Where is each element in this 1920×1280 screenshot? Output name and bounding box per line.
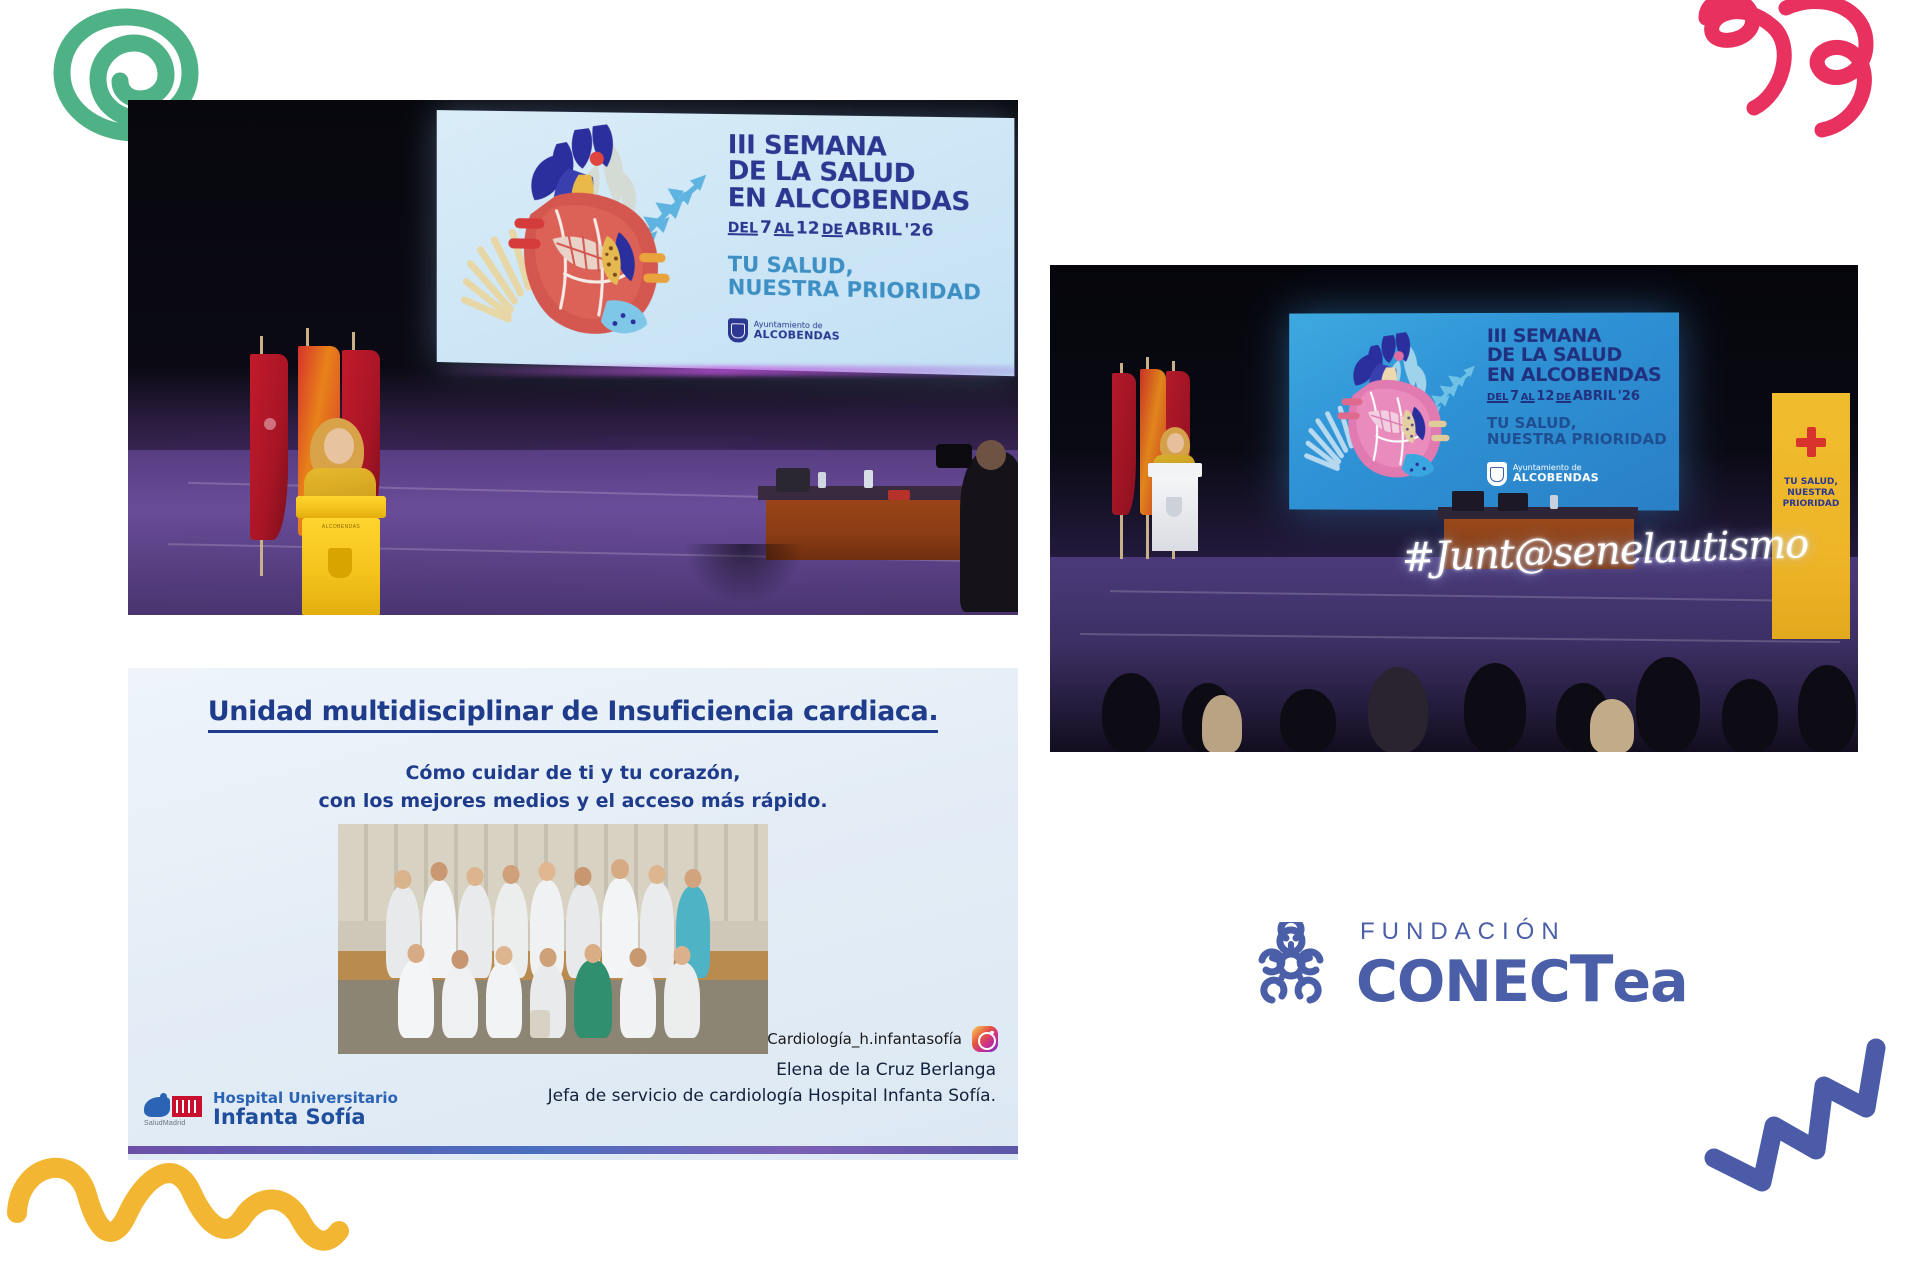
poster-tagline: TU SALUD, NUESTRA PRIORIDAD (1487, 416, 1671, 448)
presenter-name: Elena de la Cruz Berlanga (548, 1058, 996, 1084)
poster-tagline-line2: NUESTRA PRIORIDAD (728, 276, 1003, 304)
cameraman-head (976, 440, 1006, 470)
hospital-line1: Hospital Universitario (213, 1090, 398, 1107)
monitor (776, 468, 810, 492)
zigzag-doodle (1700, 1030, 1900, 1230)
monitor (1498, 493, 1528, 511)
presenter-block: Elena de la Cruz Berlanga Jefa de servic… (548, 1058, 996, 1109)
slide-subtitle-line1: Cómo cuidar de ti y tu corazón, (405, 762, 740, 784)
water-bottle (818, 472, 826, 488)
poster-line3: EN ALCOBENDAS (728, 185, 1003, 216)
poster-dates: DEL 7 AL 12 DE ABRIL '26 (1487, 389, 1671, 404)
rollup-line1: TU SALUD, (1772, 477, 1850, 488)
conectea-wordmark: CONECTea (1356, 948, 1688, 1012)
cardiology-unit-slide-photo: Unidad multidisciplinar de Insuficiencia… (128, 668, 1018, 1160)
date-day-from: 7 (760, 218, 772, 238)
screen-glow (428, 366, 1016, 376)
instagram-icon (972, 1026, 998, 1052)
anatomical-heart-illustration (1301, 321, 1483, 502)
conectea-wordmark-part1: CONEC (1356, 949, 1570, 1015)
red-folder (888, 490, 910, 500)
slide-title: Unidad multidisciplinar de Insuficiencia… (128, 696, 1018, 727)
poster-line3-prefix: EN (728, 183, 775, 214)
five-node-network-icon (1248, 922, 1334, 1008)
auditorium-wide-photo: III SEMANA DE LA SALUD EN ALCOBENDAS DEL… (1050, 265, 1858, 752)
poster-tagline: TU SALUD, NUESTRA PRIORIDAD (728, 254, 1003, 304)
date-del: DEL (1487, 392, 1509, 403)
water-bottle (1550, 495, 1558, 509)
slide-footer-bar (128, 1146, 1018, 1154)
date-year: '26 (904, 221, 933, 242)
poster-tagline-line2: NUESTRA PRIORIDAD (1487, 432, 1671, 448)
health-week-poster-blue: III SEMANA DE LA SALUD EN ALCOBENDAS DEL… (1289, 312, 1679, 510)
poster-text-block: III SEMANA DE LA SALUD EN ALCOBENDAS DEL… (728, 132, 1003, 363)
rollup-banner: TU SALUD, NUESTRA PRIORIDAD (1772, 393, 1850, 639)
hospital-line2: Infanta Sofía (213, 1106, 398, 1130)
date-day-from: 7 (1510, 389, 1519, 404)
conectea-logo: FUNDACIÓN CONECTea (1248, 905, 1678, 1025)
projection-screen: III SEMANA DE LA SALUD EN ALCOBENDAS DEL… (437, 110, 1015, 376)
flag-madrid (250, 354, 288, 540)
date-al: AL (774, 221, 794, 237)
city-hall-logo: Ayuntamiento de ALCOBENDAS (1487, 462, 1671, 486)
team-photo (338, 824, 768, 1054)
date-al: AL (1521, 392, 1535, 403)
instagram-handle: Cardiología_h.infantasofía (767, 1030, 962, 1048)
red-cross-icon (1796, 427, 1826, 457)
date-month: ABRIL (1573, 389, 1616, 404)
speaker-at-lectern-photo: III SEMANA DE LA SALUD EN ALCOBENDAS DEL… (128, 100, 1018, 615)
alcobendas-crest-icon (1487, 462, 1507, 486)
date-day-to: 12 (1536, 389, 1554, 404)
water-bottle (864, 470, 873, 488)
video-camera (936, 444, 972, 468)
poster-text-block: III SEMANA DE LA SALUD EN ALCOBENDAS DEL… (1487, 326, 1671, 500)
poster-line3-strong: ALCOBENDAS (1521, 363, 1661, 385)
monitor (1452, 491, 1484, 511)
poster-line3-prefix: EN (1487, 363, 1521, 385)
date-del: DEL (728, 220, 758, 237)
slide-title-text: Unidad multidisciplinar de Insuficiencia… (208, 696, 938, 733)
auditorium-screen: III SEMANA DE LA SALUD EN ALCOBENDAS DEL… (1289, 312, 1679, 510)
cameraman-figure (960, 452, 1018, 612)
presenter-role: Jefa de servicio de cardiología Hospital… (548, 1084, 996, 1110)
child-figure (530, 1010, 550, 1038)
slide-surface: Unidad multidisciplinar de Insuficiencia… (128, 668, 1018, 1160)
hospital-logo: SaludMadrid Hospital Universitario Infan… (144, 1090, 398, 1130)
city-hall-line2: ALCOBENDAS (754, 329, 840, 343)
date-de: DE (1556, 392, 1571, 403)
lectern-city-label: ALCOBENDAS (302, 524, 380, 530)
flag-madrid (1112, 373, 1136, 515)
date-year: '26 (1618, 389, 1640, 404)
instagram-handle-row: Cardiología_h.infantasofía (767, 1026, 998, 1052)
lectern-crest-icon (1166, 497, 1182, 517)
slide-subtitle-line2: con los mejores medios y el acceso más r… (128, 788, 1018, 816)
loops-doodle (1690, 0, 1920, 140)
saludmadrid-label: SaludMadrid (144, 1120, 186, 1127)
poster-line3-strong: ALCOBENDAS (775, 184, 970, 218)
rollup-line2: NUESTRA PRIORIDAD (1772, 488, 1850, 510)
poster-line3: EN ALCOBENDAS (1487, 365, 1671, 385)
date-de: DE (822, 222, 843, 238)
anatomical-heart-illustration (454, 120, 722, 358)
conectea-wordmark-part2: T (1570, 943, 1613, 1017)
poster-dates: DEL 7 AL 12 DE ABRIL '26 (728, 217, 1003, 242)
alcobendas-crest-icon (728, 318, 748, 342)
health-week-poster: III SEMANA DE LA SALUD EN ALCOBENDAS DEL… (437, 110, 1015, 376)
city-hall-logo: Ayuntamiento de ALCOBENDAS (728, 318, 1003, 348)
conectea-wordmark-part3: ea (1612, 949, 1687, 1015)
date-month: ABRIL (845, 220, 902, 241)
hashtag-overlay: #Junt@senelautismo (1401, 523, 1763, 600)
conectea-kicker: FUNDACIÓN (1360, 918, 1688, 946)
saludmadrid-icon: SaludMadrid (144, 1093, 204, 1127)
city-hall-line2: ALCOBENDAS (1513, 472, 1599, 484)
slide-subtitle: Cómo cuidar de ti y tu corazón, con los … (128, 760, 1018, 815)
date-day-to: 12 (796, 219, 820, 240)
